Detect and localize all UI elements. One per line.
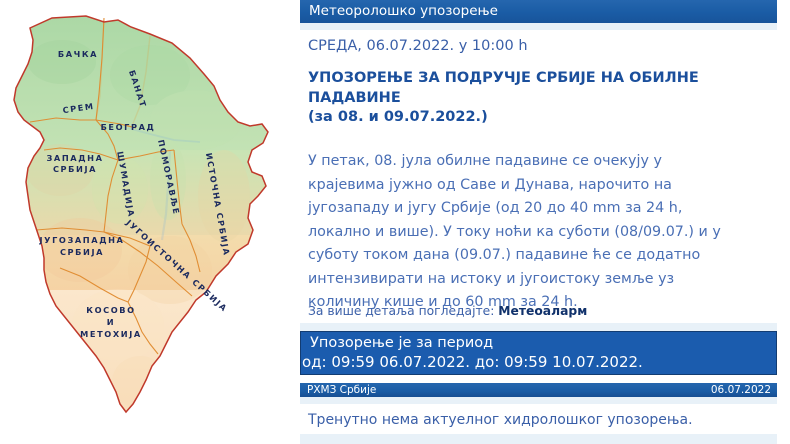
warning-body-line-1: У петак, 08. јула обилне падавине се оче… <box>308 150 784 174</box>
warning-content-panel: Метеоролошко упозорење СРЕДА, 06.07.2022… <box>292 0 790 444</box>
map-label-5: СРБИЈА <box>53 164 97 174</box>
bottom-strip <box>300 434 777 444</box>
validity-period-title: Упозорење је за период <box>310 334 493 353</box>
map-label-10: СРБИЈА <box>60 247 104 257</box>
map-label-12: КОСОВО <box>86 305 135 315</box>
warning-body-line-5: суботу током дана (09.07.) падавине ће с… <box>308 244 784 268</box>
map-graphic: БАЧКАБАНАТСРЕМБЕОГРАДЗАПАДНАСРБИЈАШУМАДИ… <box>0 0 292 444</box>
validity-period-range: од: 09:59 06.07.2022. до: 09:59 10.07.20… <box>302 352 643 372</box>
warning-body-line-4: локално и више). У току ноћи ка суботи (… <box>308 221 784 245</box>
gap-below-period <box>300 375 777 383</box>
warning-heading-line-2: ПАДАВИНЕ <box>308 89 778 109</box>
map-landmass <box>0 0 292 444</box>
rhmz-source-bar: РХМЗ Србије 06.07.2022 <box>300 383 777 397</box>
map-label-4: ЗАПАДНА <box>46 153 103 163</box>
more-details-prefix: За више детаља погледајте: <box>308 304 498 318</box>
map-label-14: МЕТОХИЈА <box>80 329 142 339</box>
warning-heading-line-3: (за 08. и 09.07.2022.) <box>308 108 778 128</box>
rhmz-date-label: 06.07.2022 <box>711 384 771 397</box>
map-label-0: БАЧКА <box>58 49 98 59</box>
map-label-9: ЈУГОЗАПАДНА <box>39 235 125 245</box>
divider-under-rhmz <box>300 397 777 404</box>
more-details-line: За више детаља погледајте: Метеоаларм <box>308 303 587 319</box>
hydro-warning-message: Тренутно нема актуелног хидролошког упоз… <box>308 410 693 430</box>
meteo-title-text: Метеоролошко упозорење <box>309 3 498 20</box>
divider-above-period <box>300 323 777 331</box>
divider-under-title <box>300 23 777 30</box>
meteo-title-bar: Метеоролошко упозорење <box>300 0 777 23</box>
validity-period-bar: Упозорење је за период од: 09:59 06.07.2… <box>300 331 777 375</box>
map-label-13: И <box>107 317 115 327</box>
issue-datetime: СРЕДА, 06.07.2022. у 10:00 h <box>308 36 528 56</box>
warning-heading: УПОЗОРЕЊЕ ЗА ПОДРУЧЈЕ СРБИЈЕ НА ОБИЛНЕ П… <box>308 69 778 128</box>
map-label-3: БЕОГРАД <box>101 122 156 132</box>
warning-heading-line-1: УПОЗОРЕЊЕ ЗА ПОДРУЧЈЕ СРБИЈЕ НА ОБИЛНЕ <box>308 69 778 89</box>
warning-body-line-2: крајевима јужно од Саве и Дунава, нарочи… <box>308 174 784 198</box>
serbia-region-map: БАЧКАБАНАТСРЕМБЕОГРАДЗАПАДНАСРБИЈАШУМАДИ… <box>0 0 292 444</box>
meteoalarm-link[interactable]: Метеоаларм <box>498 304 587 318</box>
warning-body-text: У петак, 08. јула обилне падавине се оче… <box>308 150 784 315</box>
warning-body-line-6: интензивирати на истоку и југоистоку зем… <box>308 268 784 292</box>
rhmz-source-label: РХМЗ Србије <box>307 384 376 397</box>
weather-warning-page: БАЧКАБАНАТСРЕМБЕОГРАДЗАПАДНАСРБИЈАШУМАДИ… <box>0 0 790 444</box>
warning-body-line-3: југозападу и југу Србије (од 20 до 40 mm… <box>308 197 784 221</box>
